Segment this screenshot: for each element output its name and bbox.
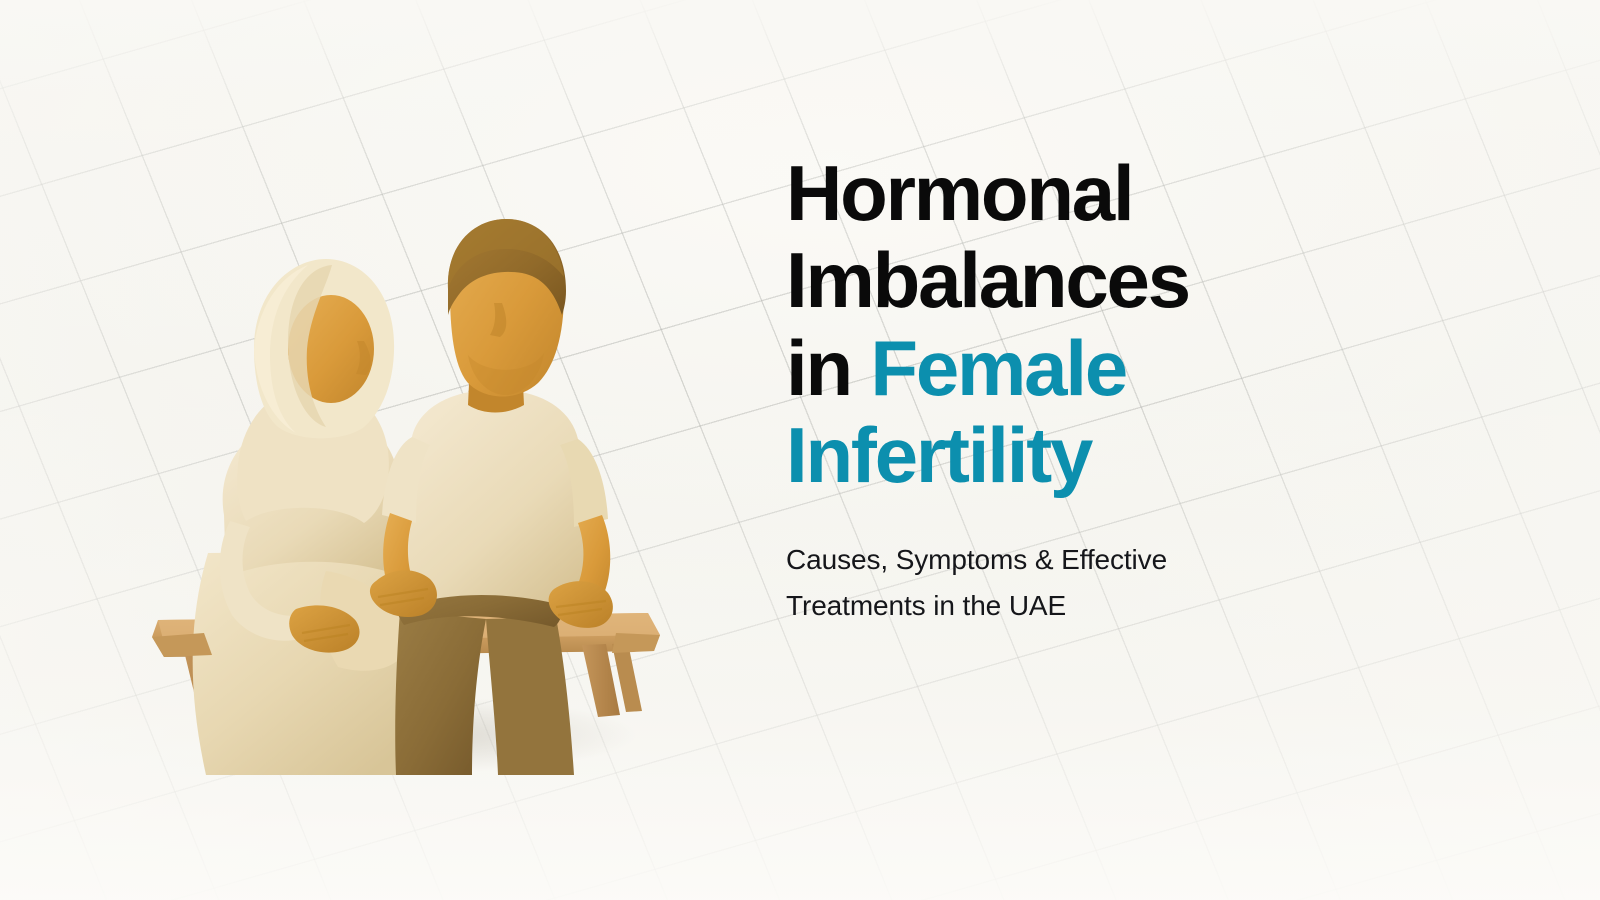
subtitle-line-1: Causes, Symptoms & Effective (786, 537, 1326, 582)
headline-line-4-accent: Infertility (786, 412, 1446, 499)
subtitle-line-2: Treatments in the UAE (786, 583, 1326, 628)
headline-line-2: Imbalances (786, 237, 1446, 324)
headline-line-3-plain: in (786, 324, 870, 412)
woman-figure (193, 259, 414, 775)
couple-on-bench-illustration (150, 215, 690, 775)
headline-line-3-accent: Female (870, 324, 1126, 412)
hero-banner: Hormonal Imbalances in Female Infertilit… (0, 0, 1600, 900)
headline-line-3: in Female (786, 325, 1446, 412)
man-figure (370, 219, 613, 775)
hero-text-block: Hormonal Imbalances in Female Infertilit… (786, 150, 1446, 628)
headline-line-1: Hormonal (786, 150, 1446, 237)
page-title: Hormonal Imbalances in Female Infertilit… (786, 150, 1446, 499)
page-subtitle: Causes, Symptoms & Effective Treatments … (786, 537, 1326, 628)
